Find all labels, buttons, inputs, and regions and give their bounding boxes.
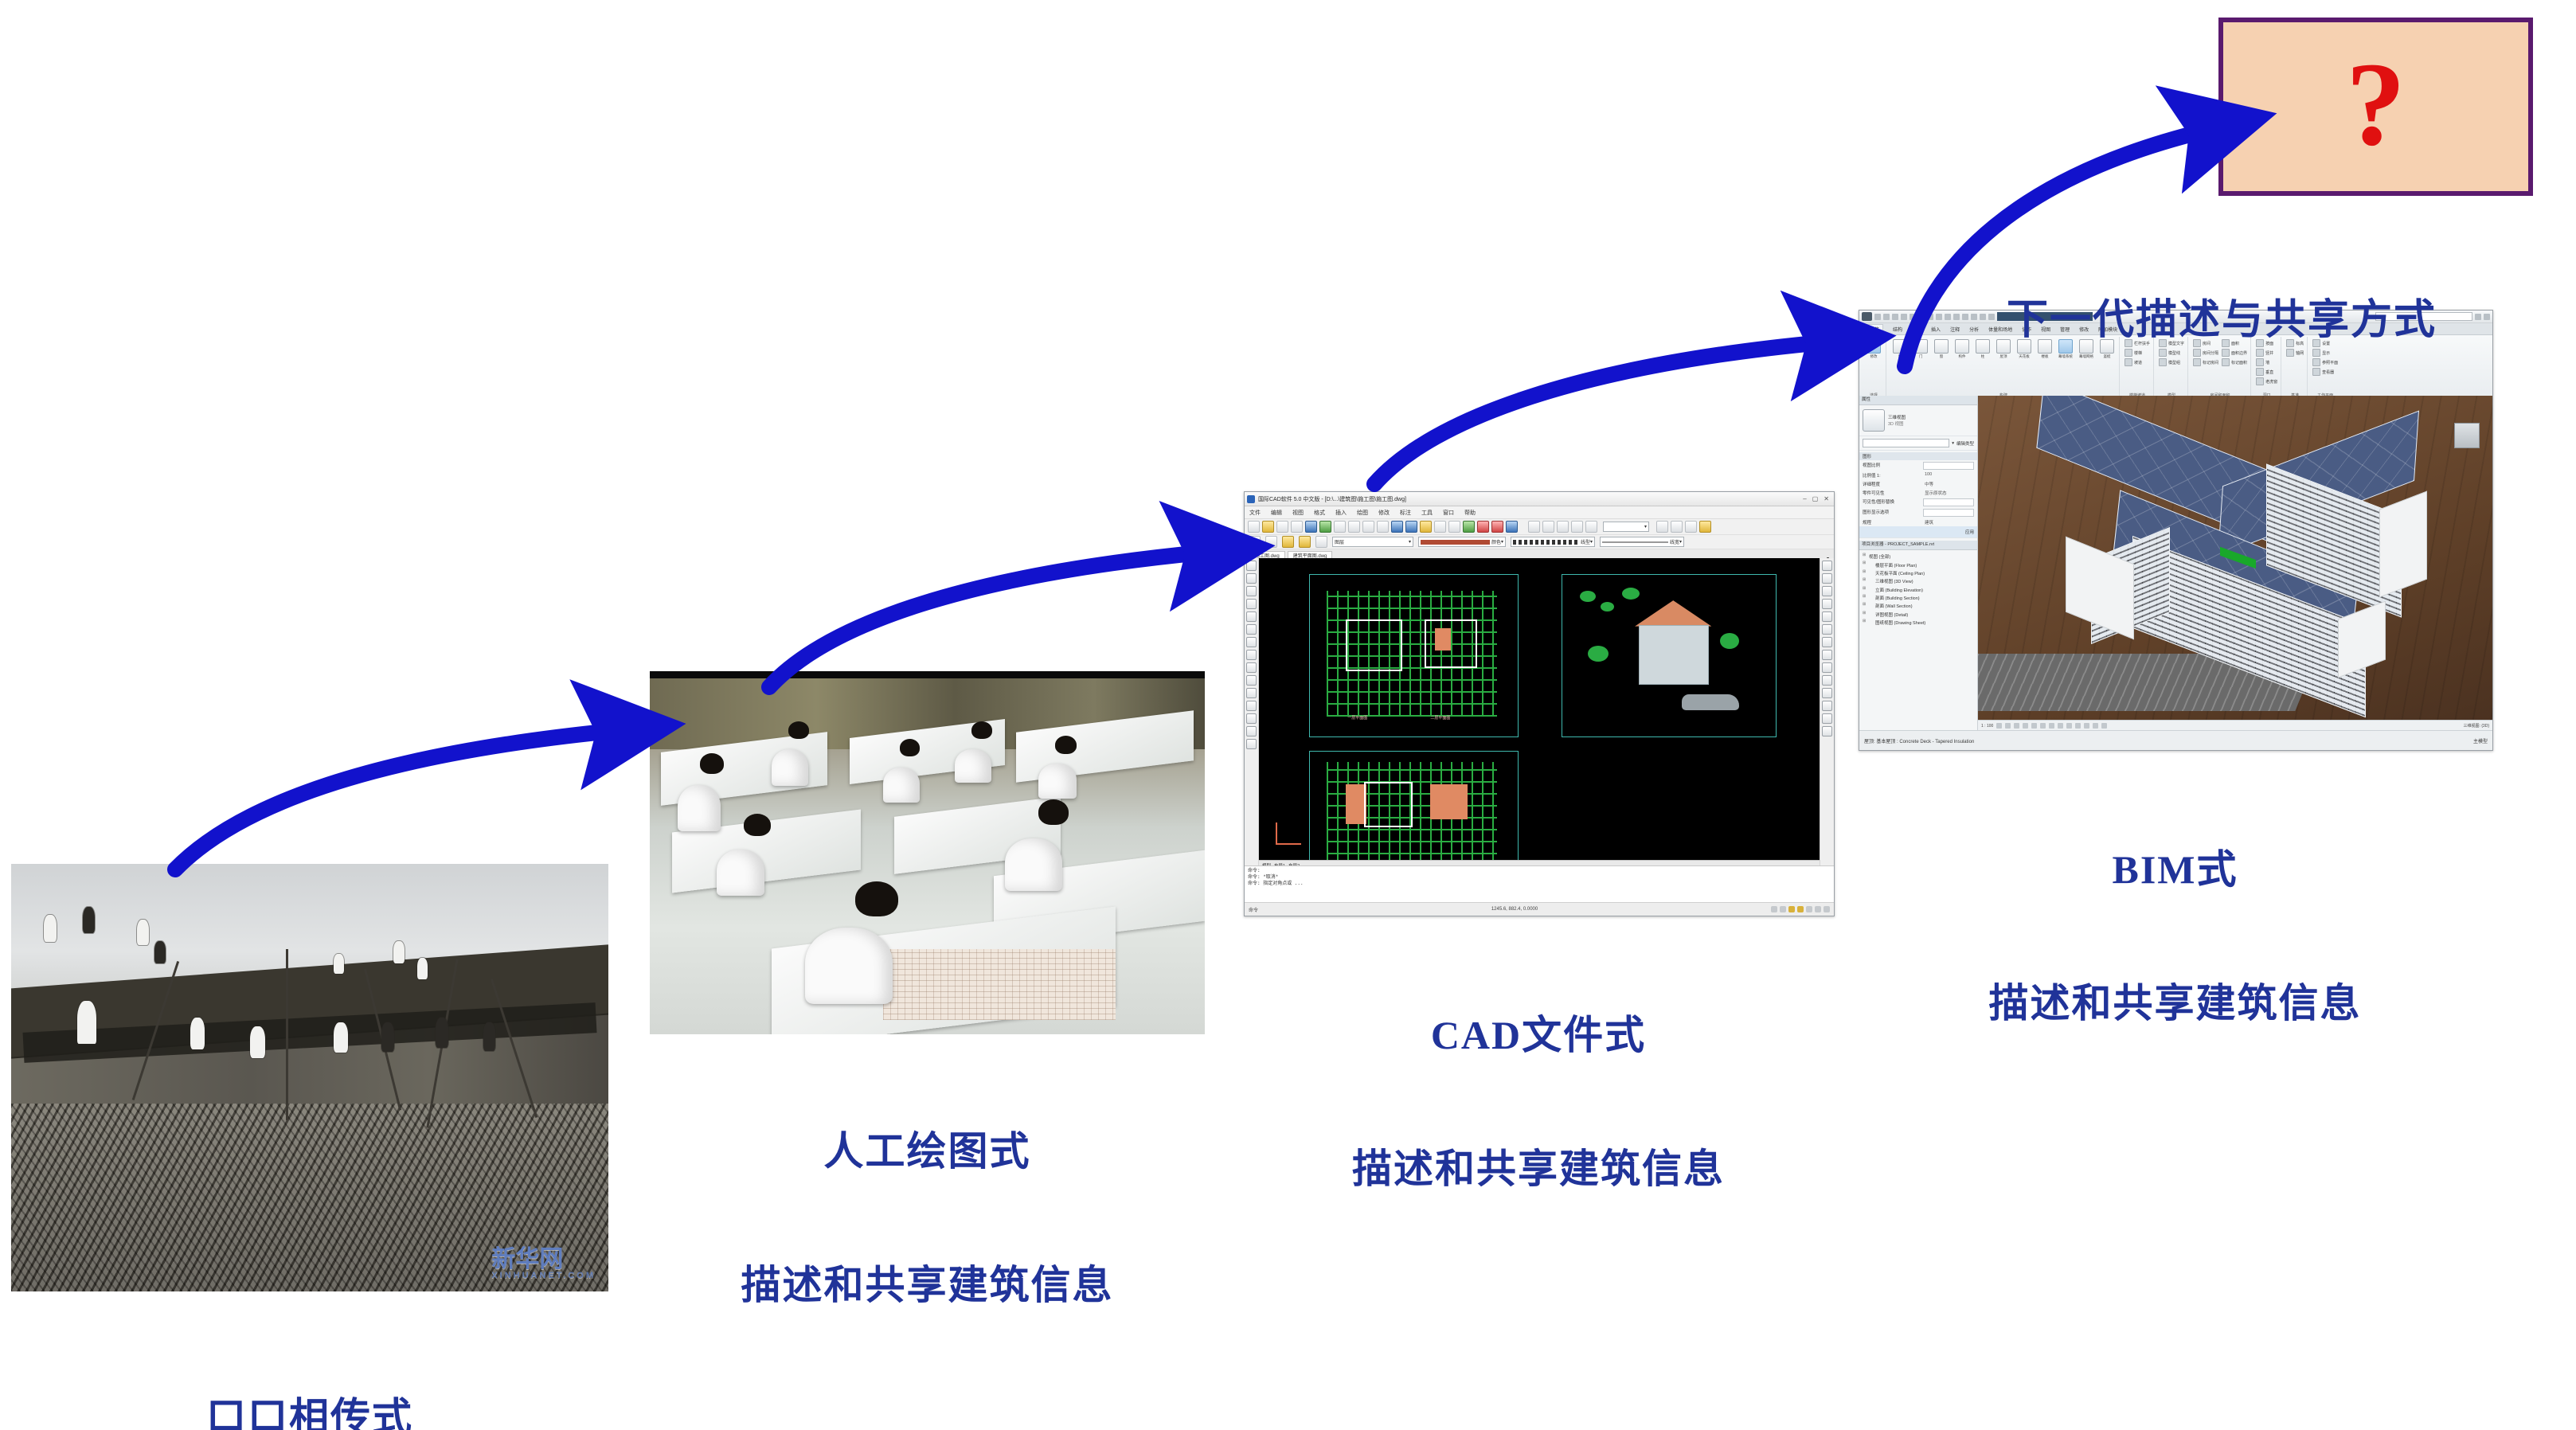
- layer-state-icon[interactable]: [1265, 536, 1277, 548]
- room-fill: [1435, 628, 1452, 651]
- publish-icon[interactable]: [1319, 521, 1331, 533]
- draftsman-head: [1055, 736, 1077, 754]
- caption-line-2: 描述和共享建筑信息: [650, 1263, 1205, 1307]
- properties-type-card: 三维视图 3D 视图: [1859, 405, 1977, 436]
- parameter-value: 建筑: [1925, 519, 1974, 526]
- hatch-icon[interactable]: [1699, 521, 1711, 533]
- parameter-row[interactable]: 零件可见性 显示原状态: [1859, 488, 1977, 497]
- close-icon[interactable]: ✕: [1824, 495, 1829, 502]
- temporary-hide-isolate-icon[interactable]: [2066, 723, 2072, 729]
- command-history-line: 命令:: [1248, 868, 1831, 874]
- menu-item[interactable]: 格式: [1314, 509, 1325, 517]
- caption-line-2: 描述和共享建筑信息: [1244, 1147, 1833, 1191]
- match-properties-icon[interactable]: [1377, 521, 1389, 533]
- caption-cad-file: CAD文件式 描述和共享建筑信息: [1244, 924, 1833, 1280]
- photo-worker: [83, 907, 95, 933]
- menu-item[interactable]: 文件: [1249, 509, 1261, 517]
- undo-icon[interactable]: [1892, 314, 1898, 320]
- landscape-tree: [1622, 588, 1640, 600]
- rectangle-icon[interactable]: [1246, 611, 1257, 622]
- ribbon-group-select: 修改 选择: [1862, 337, 1886, 399]
- block-icon[interactable]: [1477, 521, 1489, 533]
- photo-worker: [250, 1026, 265, 1058]
- apply-button[interactable]: 应用: [1965, 529, 1974, 535]
- elevation-body: [1639, 625, 1709, 685]
- arc-tool-icon[interactable]: [1246, 586, 1257, 596]
- properties-type-name: 三维视图: [1888, 414, 1906, 420]
- properties-icon[interactable]: [1506, 521, 1518, 533]
- ribbon-tab-systems[interactable]: 系统: [1912, 326, 1921, 333]
- lock-3d-view-icon[interactable]: [2058, 723, 2063, 729]
- command-history-line: 命令: *取消*: [1248, 874, 1831, 881]
- apply-row[interactable]: 应用: [1859, 526, 1977, 538]
- layer-lock-icon[interactable]: [1315, 536, 1327, 548]
- grid-toggle-icon[interactable]: [1780, 906, 1786, 912]
- wall-icon: [1893, 339, 1907, 354]
- type-selector-dropdown[interactable]: [1863, 439, 1949, 447]
- dim-style-icon[interactable]: [1542, 521, 1554, 533]
- menu-item[interactable]: 修改: [1378, 509, 1390, 517]
- browser-item[interactable]: 详图视图 (Detail): [1863, 611, 1974, 619]
- crop-view-icon[interactable]: [2040, 723, 2046, 729]
- bim-main-area: 属性 三维视图 3D 视图 ▾ 编辑类型 图形 视图比例: [1859, 396, 2492, 731]
- landscape-tree: [1580, 591, 1596, 602]
- properties-panel-header: 属性: [1859, 396, 1977, 405]
- open-file-icon[interactable]: [1262, 521, 1274, 533]
- layer-freeze-icon[interactable]: [1299, 536, 1311, 548]
- status-tooltip: 屋顶: 基本屋顶 : Concrete Deck - Tapered Insul…: [1864, 737, 1974, 744]
- browser-root-node[interactable]: 视图 (全部): [1863, 553, 1974, 561]
- mtext-icon[interactable]: [1246, 739, 1257, 749]
- caption-manual-drafting: 人工绘图式 描述和共享建筑信息: [650, 1040, 1205, 1397]
- browser-item[interactable]: 天花板平面 (Ceiling Plan): [1863, 569, 1974, 577]
- question-mark-icon: ?: [2346, 45, 2406, 164]
- cad-standard-toolbar[interactable]: ▾: [1245, 519, 1834, 535]
- caption-line-1: CAD文件式: [1244, 1013, 1833, 1057]
- ribbon-tab-analyze[interactable]: 分析: [1969, 326, 1979, 333]
- command-prompt-line: 命令: 指定对角点或 ...: [1248, 881, 1831, 887]
- cad-app-icon: [1247, 495, 1255, 503]
- minimize-icon[interactable]: –: [1803, 495, 1806, 502]
- status-coordinates: 1245.6, 882.4, 0.0000: [1491, 907, 1538, 912]
- parameter-name: 零件可见性: [1863, 490, 1885, 496]
- shadows-icon[interactable]: [2023, 723, 2028, 729]
- parameter-name: 规程: [1863, 519, 1871, 526]
- snap-toggle-icon[interactable]: [1771, 906, 1777, 912]
- draftsman: [772, 749, 808, 786]
- region-icon[interactable]: [1246, 713, 1257, 724]
- photo-watermark: 新华网 XINHUANET.COM: [491, 1248, 596, 1280]
- room-outline: [1346, 619, 1403, 671]
- move-icon[interactable]: [1822, 624, 1832, 635]
- maximize-icon[interactable]: ▢: [1812, 495, 1819, 502]
- menu-item[interactable]: 标注: [1400, 509, 1411, 517]
- cad-status-bar: 命令 1245.6, 882.4, 0.0000: [1245, 902, 1834, 916]
- cad-drawing-canvas[interactable]: 一层平面图 二层平面图: [1259, 558, 1820, 869]
- mleader-style-icon[interactable]: [1571, 521, 1583, 533]
- status-selection: 主模型: [2473, 737, 2488, 744]
- draftsman: [717, 850, 764, 896]
- photo-worker: [436, 1018, 448, 1048]
- photo-worker: [334, 1022, 348, 1053]
- cad-layer-properties-toolbar[interactable]: 图层▾ 颜色▾ 线型▾ 线宽▾: [1245, 535, 1834, 549]
- diagram-canvas: 新华网 XINHUANET.COM 口口相传式 描述与共享建筑信息: [0, 0, 2576, 1430]
- parameter-row[interactable]: 视图比例: [1859, 460, 1977, 471]
- status-command: 命令: [1249, 906, 1258, 913]
- status-mode-icons[interactable]: [1771, 906, 1830, 912]
- type-selector-row[interactable]: ▾ 编辑类型: [1859, 436, 1977, 451]
- ribbon-tab-architecture[interactable]: 建筑: [1866, 324, 1883, 334]
- viewport-label: 一层平面图: [1347, 715, 1367, 721]
- worksharing-display-icon[interactable]: [2084, 723, 2089, 729]
- polygon-icon[interactable]: [1246, 624, 1257, 635]
- layer-manager-icon[interactable]: [1249, 536, 1261, 548]
- draftsman-foreground: [805, 928, 893, 1004]
- cad-window-title: 国际CAD软件 5.0 中文版 - [D:\...\建筑图\施工图\施工图.dw…: [1258, 495, 1800, 503]
- elevation-roof: [1635, 600, 1711, 627]
- new-file-icon[interactable]: [1248, 521, 1260, 533]
- window-icon: [1934, 339, 1949, 354]
- draftsman: [955, 749, 991, 783]
- fillet-icon[interactable]: [1822, 701, 1832, 711]
- landscape-tree: [1588, 646, 1609, 662]
- project-browser-tree[interactable]: 视图 (全部) 楼层平面 (Floor Plan) 天花板平面 (Ceiling…: [1859, 550, 1977, 629]
- extend-icon[interactable]: [1822, 688, 1832, 698]
- show-crop-icon[interactable]: [2049, 723, 2054, 729]
- rotate-icon[interactable]: [1822, 637, 1832, 647]
- text-style-icon[interactable]: [1528, 521, 1540, 533]
- ucs-icon: [1276, 822, 1301, 845]
- reveal-hidden-icon[interactable]: [2075, 723, 2081, 729]
- arc-icon[interactable]: [1671, 521, 1683, 533]
- building-end-wall-east: [2379, 490, 2427, 598]
- text-icon[interactable]: [1945, 314, 1951, 320]
- table-icon[interactable]: [1246, 726, 1257, 736]
- view-control-bar[interactable]: 1 : 100 三维视图: {3D}: [1978, 720, 2492, 731]
- landscape-tree: [1720, 633, 1739, 649]
- cad-window-controls[interactable]: – ▢ ✕: [1803, 495, 1831, 502]
- component-icon: [1955, 339, 1969, 354]
- properties-panel[interactable]: 属性 三维视图 3D 视图 ▾ 编辑类型 图形 视图比例: [1859, 396, 1978, 731]
- cad-workspace: 一层平面图 二层平面图: [1245, 558, 1834, 869]
- viewport-plan-1[interactable]: 一层平面图 二层平面图: [1309, 574, 1518, 737]
- polyline-icon[interactable]: [1246, 573, 1257, 584]
- section-icon[interactable]: [1962, 314, 1968, 320]
- tool-label: 墙: [1898, 354, 1902, 359]
- arrow-cad-to-bim: [1374, 342, 1824, 484]
- tool-label: 门: [1919, 354, 1923, 359]
- helix-icon[interactable]: [1656, 521, 1668, 533]
- landscape-tree: [1601, 602, 1614, 611]
- point-style-icon[interactable]: [1585, 521, 1597, 533]
- tool-label: 构件: [1959, 354, 1966, 359]
- copy-object-icon[interactable]: [1822, 573, 1832, 584]
- browser-item[interactable]: 图纸视图 (Drawing Sheet): [1863, 619, 1974, 627]
- menu-item[interactable]: 窗口: [1443, 509, 1454, 517]
- modify-icon: [1867, 339, 1881, 354]
- photo-worker: [44, 915, 57, 942]
- chamfer-icon[interactable]: [1822, 726, 1832, 736]
- browser-item[interactable]: 剖面 (Wall Section): [1863, 602, 1974, 610]
- undo-icon[interactable]: [1391, 521, 1403, 533]
- draftsman-head: [855, 881, 898, 916]
- properties-type-subname: 3D 视图: [1888, 420, 1906, 427]
- menu-item[interactable]: 绘图: [1357, 509, 1368, 517]
- browser-item[interactable]: 三维视图 (3D View): [1863, 577, 1974, 585]
- photo-worker: [417, 958, 428, 979]
- align-dimension-icon[interactable]: [1927, 314, 1933, 320]
- blueprint-sheet: [883, 949, 1116, 1020]
- switch-windows-icon[interactable]: [1988, 314, 1995, 320]
- arrow-oral-to-drafting: [175, 731, 613, 869]
- model-space-toggle-icon[interactable]: [1824, 906, 1830, 912]
- viewport-elevation[interactable]: [1562, 574, 1777, 737]
- menu-item[interactable]: 编辑: [1271, 509, 1282, 517]
- close-hidden-windows-icon[interactable]: [1980, 314, 1986, 320]
- draftsman-head: [900, 739, 920, 756]
- view-type-thumbnail-icon: [1863, 409, 1885, 432]
- lineweight-combo[interactable]: 线宽▾: [1600, 537, 1684, 547]
- scale-icon[interactable]: [1822, 650, 1832, 660]
- offset-icon[interactable]: [1822, 599, 1832, 609]
- parameter-edit-button[interactable]: [1923, 509, 1974, 517]
- site-car: [1682, 694, 1739, 710]
- circle-icon[interactable]: [1685, 521, 1697, 533]
- photo-worker: [137, 920, 149, 945]
- parameter-value: 100: [1925, 472, 1974, 479]
- lineweight-toggle-icon[interactable]: [1815, 906, 1821, 912]
- caption-oral-tradition: 口口相传式 描述与共享建筑信息: [11, 1306, 608, 1430]
- parameter-value: 中等: [1925, 481, 1974, 487]
- ribbon-tab-insert[interactable]: 插入: [1931, 326, 1941, 333]
- pan-icon[interactable]: [1420, 521, 1432, 533]
- caption-next-generation: 下一代描述与共享方式: [2007, 205, 2576, 437]
- erase-icon[interactable]: [1822, 561, 1832, 571]
- menu-item[interactable]: 视图: [1292, 509, 1304, 517]
- tool-label: 修改: [1870, 354, 1878, 359]
- layer-combo[interactable]: 图层▾: [1332, 537, 1413, 547]
- save-icon[interactable]: [1276, 521, 1288, 533]
- point-icon[interactable]: [1246, 688, 1257, 698]
- bim-3d-view[interactable]: 1 : 100 三维视图: {3D}: [1978, 396, 2492, 731]
- zoom-window-icon[interactable]: [1448, 521, 1460, 533]
- column-icon: [1976, 339, 1990, 354]
- line-icon[interactable]: [1246, 561, 1257, 571]
- print-icon[interactable]: [1910, 314, 1916, 320]
- polar-toggle-icon[interactable]: [1797, 906, 1804, 912]
- draftsman-head: [744, 814, 771, 836]
- draftsman-head: [788, 721, 809, 739]
- cad-title-bar: 国际CAD软件 5.0 中文版 - [D:\...\建筑图\施工图\施工图.dw…: [1245, 492, 1834, 506]
- caption-line-1: BIM式: [1859, 847, 2492, 892]
- draftsman-head: [700, 753, 724, 774]
- mirror-icon[interactable]: [1822, 586, 1832, 596]
- component-tool-button[interactable]: 构件: [1953, 339, 1971, 359]
- parameter-name: 视图比例: [1863, 462, 1880, 470]
- draftsman: [678, 785, 721, 831]
- revit-logo-icon[interactable]: [1862, 312, 1872, 321]
- draftsman-head: [1038, 799, 1069, 825]
- parameter-value-input[interactable]: [1923, 462, 1974, 470]
- array-icon[interactable]: [1822, 611, 1832, 622]
- ribbon-tab-structure[interactable]: 结构: [1893, 326, 1902, 333]
- parameter-row[interactable]: 图形显示选项: [1859, 507, 1977, 518]
- parameter-value: 显示原状态: [1925, 490, 1974, 496]
- photo-worker: [334, 954, 344, 974]
- default-3d-view-icon[interactable]: [1953, 314, 1960, 320]
- parameter-row[interactable]: 可见性/图形替换: [1859, 497, 1977, 507]
- parameter-row[interactable]: 详细程度 中等: [1859, 479, 1977, 488]
- linetype-combo[interactable]: 线型▾: [1511, 537, 1595, 547]
- osnap-toggle-icon[interactable]: [1806, 906, 1812, 912]
- tool-label: 窗: [1940, 354, 1944, 359]
- modify-tool-button[interactable]: 修改: [1865, 339, 1882, 359]
- cut-icon[interactable]: [1334, 521, 1346, 533]
- cad-menu-bar[interactable]: 文件 编辑 视图 格式 插入 绘图 修改 标注 工具 窗口 帮助: [1245, 506, 1834, 519]
- door-tool-button[interactable]: 门: [1912, 339, 1929, 359]
- watermark-text: 新华网: [491, 1246, 563, 1272]
- project-browser-header: 项目浏览器 - PROJECT_SAMPLE.rvt: [1859, 541, 1977, 550]
- parameter-group-header: 图形: [1859, 452, 1977, 460]
- bim-status-bar: 屋顶: 基本屋顶 : Concrete Deck - Tapered Insul…: [1859, 730, 2492, 750]
- stretch-icon[interactable]: [1822, 662, 1832, 673]
- view-scale-label[interactable]: 1 : 100: [1981, 724, 1993, 729]
- menu-item[interactable]: 帮助: [1464, 509, 1476, 517]
- arrow-drafting-to-cad: [769, 553, 1202, 687]
- circle-tool-icon[interactable]: [1246, 599, 1257, 609]
- zoom-previous-icon[interactable]: [1463, 521, 1475, 533]
- make-block-icon[interactable]: [1246, 675, 1257, 686]
- parameter-row[interactable]: 比例值 1: 100: [1859, 471, 1977, 479]
- caption-line-1: 下一代描述与共享方式: [2007, 298, 2576, 344]
- caption-line-1: 人工绘图式: [650, 1129, 1205, 1174]
- ellipse-icon[interactable]: [1246, 650, 1257, 660]
- draftsman: [883, 768, 920, 803]
- parameter-name: 可见性/图形替换: [1863, 498, 1894, 506]
- dimstyle-combo[interactable]: ▾: [1603, 522, 1649, 532]
- parameter-name: 比例值 1:: [1863, 472, 1881, 479]
- menu-item[interactable]: 插入: [1335, 509, 1347, 517]
- draftsman: [1038, 764, 1077, 799]
- tool-label: 柱: [1981, 354, 1985, 359]
- hatch-tool-icon[interactable]: [1246, 701, 1257, 711]
- spline-icon[interactable]: [1246, 637, 1257, 647]
- analytical-model-icon[interactable]: [2093, 723, 2098, 729]
- column-tool-button[interactable]: 柱: [1974, 339, 1992, 359]
- room-outline: [1364, 782, 1413, 827]
- redo-icon[interactable]: [1901, 314, 1907, 320]
- cad-application-window[interactable]: 国际CAD软件 5.0 中文版 - [D:\...\建筑图\施工图\施工图.dw…: [1244, 491, 1835, 916]
- table-style-icon[interactable]: [1557, 521, 1569, 533]
- photo-worker: [381, 1022, 394, 1052]
- parameter-name: 详细程度: [1863, 481, 1880, 487]
- browser-item[interactable]: 剖面 (Building Section): [1863, 594, 1974, 602]
- sun-path-icon[interactable]: [2014, 723, 2019, 729]
- parameter-row[interactable]: 规程 建筑: [1859, 518, 1977, 526]
- tag-icon[interactable]: [1936, 314, 1942, 320]
- menu-item[interactable]: 工具: [1421, 509, 1433, 517]
- color-combo[interactable]: 颜色▾: [1418, 537, 1506, 547]
- trim-icon[interactable]: [1822, 675, 1832, 686]
- room-fill: [1346, 784, 1366, 824]
- visual-style-icon[interactable]: [2005, 723, 2011, 729]
- photo-prop-pole: [286, 949, 288, 1120]
- render-icon[interactable]: [2031, 723, 2037, 729]
- redo-icon[interactable]: [1405, 521, 1417, 533]
- photo-worker: [483, 1022, 495, 1051]
- photo-worker: [154, 941, 166, 963]
- insert-block-icon[interactable]: [1246, 662, 1257, 673]
- viewport-plan-2[interactable]: [1309, 751, 1518, 869]
- caption-bim: BIM式 描述和共享建筑信息: [1859, 758, 2492, 1115]
- browser-item[interactable]: 楼层平面 (Floor Plan): [1863, 561, 1974, 568]
- explode-icon[interactable]: [1822, 713, 1832, 724]
- plot-preview-icon[interactable]: [1305, 521, 1317, 533]
- copy-icon[interactable]: [1348, 521, 1360, 533]
- zoom-icon[interactable]: [1434, 521, 1446, 533]
- print-icon[interactable]: [1291, 521, 1303, 533]
- cad-modify-toolbar[interactable]: [1820, 558, 1834, 869]
- caption-line-1: 口口相传式: [11, 1395, 608, 1430]
- ribbon-tab-annotate[interactable]: 注释: [1950, 326, 1960, 333]
- watermark-subtext: XINHUANET.COM: [491, 1272, 596, 1280]
- paste-icon[interactable]: [1362, 521, 1374, 533]
- draftsman: [1005, 838, 1062, 891]
- xref-icon[interactable]: [1491, 521, 1503, 533]
- cad-draw-toolbar[interactable]: [1245, 558, 1259, 869]
- view-title-label: 三维视图: {3D}: [2463, 723, 2489, 729]
- caption-line-2: 描述和共享建筑信息: [1859, 981, 2492, 1026]
- ortho-toggle-icon[interactable]: [1788, 906, 1795, 912]
- chevron-down-icon[interactable]: ▾: [1952, 441, 1954, 446]
- next-generation-question-box[interactable]: ?: [2218, 18, 2533, 196]
- thin-lines-icon[interactable]: [1971, 314, 1977, 320]
- draftsman-head: [971, 721, 992, 739]
- photo-worker: [190, 1018, 205, 1049]
- room-fill: [1430, 784, 1468, 819]
- wall-tool-button[interactable]: 墙: [1891, 339, 1909, 359]
- constraints-icon[interactable]: [2101, 723, 2107, 729]
- window-tool-button[interactable]: 窗: [1933, 339, 1950, 359]
- detail-level-icon[interactable]: [1996, 723, 2002, 729]
- viewport-label: 二层平面图: [1430, 715, 1450, 721]
- photo-manual-drafting-room: [650, 671, 1205, 1034]
- parameter-edit-button[interactable]: [1923, 498, 1974, 506]
- photo-worker: [393, 941, 405, 963]
- measure-icon[interactable]: [1918, 314, 1925, 320]
- save-icon[interactable]: [1883, 314, 1890, 320]
- door-icon: [1913, 339, 1928, 354]
- browser-item[interactable]: 立面 (Building Elevation): [1863, 586, 1974, 594]
- open-icon[interactable]: [1874, 314, 1881, 320]
- photo-oral-tradition-mud-house: 新华网 XINHUANET.COM: [11, 864, 608, 1291]
- layer-on-icon[interactable]: [1282, 536, 1294, 548]
- edit-type-button[interactable]: 编辑类型: [1956, 440, 1974, 447]
- cad-command-line[interactable]: 命令: 命令: *取消* 命令: 指定对角点或 ...: [1245, 865, 1834, 903]
- parameter-name: 图形显示选项: [1863, 509, 1889, 517]
- photo-worker: [77, 1001, 96, 1044]
